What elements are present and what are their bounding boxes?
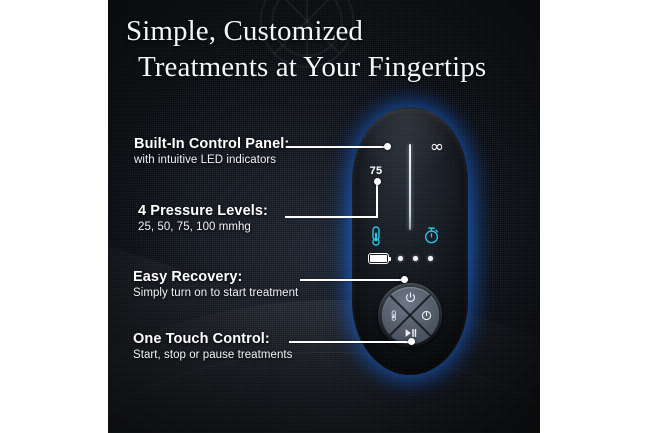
led-indicator-dot bbox=[413, 256, 418, 261]
power-icon bbox=[405, 292, 416, 303]
promo-image-stage: Simple, Customized Treatments at Your Fi… bbox=[0, 0, 650, 433]
photo-sheen-band bbox=[108, 214, 296, 433]
pressure-level-bar bbox=[409, 144, 411, 230]
play-pause-icon bbox=[404, 328, 417, 338]
callout-title: Built-In Control Panel: bbox=[134, 136, 289, 152]
timer-button[interactable] bbox=[419, 307, 435, 323]
page-title: Simple, Customized Treatments at Your Fi… bbox=[126, 14, 526, 86]
callout-subtitle: Simply turn on to start treatment bbox=[133, 287, 298, 299]
callout-leader-line bbox=[300, 279, 404, 281]
pressure-reading-value: 75 bbox=[361, 165, 391, 177]
infinity-mode-indicator: ∞ bbox=[420, 138, 454, 156]
stopwatch-icon bbox=[423, 226, 440, 244]
headline-line-2: Treatments at Your Fingertips bbox=[126, 50, 526, 86]
photo-shadow-arc bbox=[108, 352, 540, 433]
callout-leader-dot bbox=[374, 178, 381, 185]
callout-leader-line bbox=[286, 146, 387, 148]
power-button[interactable] bbox=[402, 290, 418, 306]
thermometer-icon bbox=[369, 226, 383, 246]
callout-one-touch-control: One Touch Control: Start, stop or pause … bbox=[133, 331, 292, 361]
timer-icon bbox=[421, 310, 432, 321]
headline-line-1: Simple, Customized bbox=[126, 14, 526, 50]
callout-subtitle: 25, 50, 75, 100 mmhg bbox=[138, 221, 268, 233]
temperature-button[interactable] bbox=[386, 307, 402, 323]
callout-subtitle: Start, stop or pause treatments bbox=[133, 349, 292, 361]
callout-title: Easy Recovery: bbox=[133, 269, 298, 285]
callout-built-in-control-panel: Built-In Control Panel: with intuitive L… bbox=[134, 136, 289, 166]
callout-easy-recovery: Easy Recovery: Simply turn on to start t… bbox=[133, 269, 298, 299]
callout-leader-line bbox=[376, 181, 378, 217]
callout-title: 4 Pressure Levels: bbox=[138, 203, 268, 219]
callout-leader-line bbox=[289, 341, 411, 343]
callout-leader-line bbox=[285, 216, 378, 218]
thermometer-icon bbox=[390, 310, 398, 321]
led-indicator-dot bbox=[398, 256, 403, 261]
callout-pressure-levels: 4 Pressure Levels: 25, 50, 75, 100 mmhg bbox=[138, 203, 268, 233]
battery-fill bbox=[370, 255, 386, 261]
led-indicator-dot bbox=[428, 256, 433, 261]
battery-icon bbox=[368, 253, 389, 264]
callout-title: One Touch Control: bbox=[133, 331, 292, 347]
callout-subtitle: with intuitive LED indicators bbox=[134, 154, 289, 166]
control-pad-face[interactable] bbox=[382, 287, 439, 344]
